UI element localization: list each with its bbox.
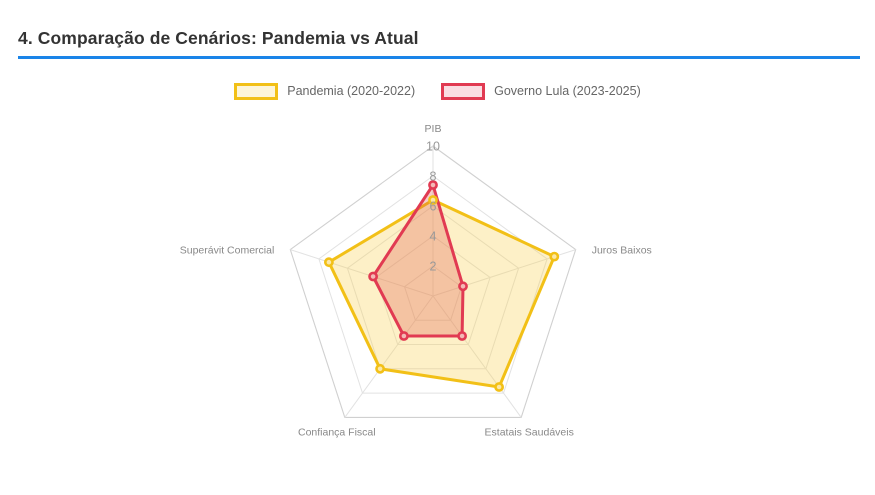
tick-label-6: 6 [430, 200, 437, 214]
data-point-0-1[interactable] [551, 253, 558, 260]
tick-label-2: 2 [430, 260, 437, 274]
chart-page: 4. Comparação de Cenários: Pandemia vs A… [0, 0, 875, 495]
axis-label-pib: PIB [425, 123, 442, 135]
data-point-0-2[interactable] [496, 383, 503, 390]
legend-swatch-pandemia [234, 83, 278, 100]
axis-label-super-vit-comercial: Superávit Comercial [180, 245, 275, 257]
axis-label-confian-a-fiscal: Confiança Fiscal [298, 426, 376, 438]
page-title: 4. Comparação de Cenários: Pandemia vs A… [18, 28, 419, 49]
data-point-1-1[interactable] [459, 283, 466, 290]
data-point-1-3[interactable] [400, 332, 407, 339]
chart-legend: Pandemia (2020-2022) Governo Lula (2023-… [0, 80, 875, 102]
radar-series [329, 185, 554, 387]
data-point-0-3[interactable] [377, 365, 384, 372]
data-point-0-4[interactable] [325, 259, 332, 266]
legend-swatch-lula [441, 83, 485, 100]
data-point-1-2[interactable] [459, 332, 466, 339]
page-header: 4. Comparação de Cenários: Pandemia vs A… [0, 0, 875, 60]
axis-label-juros-baixos: Juros Baixos [592, 245, 652, 257]
legend-item-lula[interactable]: Governo Lula (2023-2025) [441, 83, 641, 100]
radar-chart-container: 246810 PIBJuros BaixosEstatais Saudáveis… [0, 100, 875, 495]
axis-label-estatais-saud-veis: Estatais Saudáveis [485, 426, 574, 438]
legend-label-lula: Governo Lula (2023-2025) [494, 84, 641, 98]
header-divider [18, 56, 860, 59]
data-point-1-4[interactable] [370, 273, 377, 280]
tick-label-10: 10 [426, 140, 440, 154]
legend-item-pandemia[interactable]: Pandemia (2020-2022) [234, 83, 415, 100]
legend-label-pandemia: Pandemia (2020-2022) [287, 84, 415, 98]
tick-label-8: 8 [430, 170, 437, 184]
radar-chart[interactable]: 246810 PIBJuros BaixosEstatais Saudáveis… [0, 100, 875, 495]
tick-label-4: 4 [430, 230, 437, 244]
